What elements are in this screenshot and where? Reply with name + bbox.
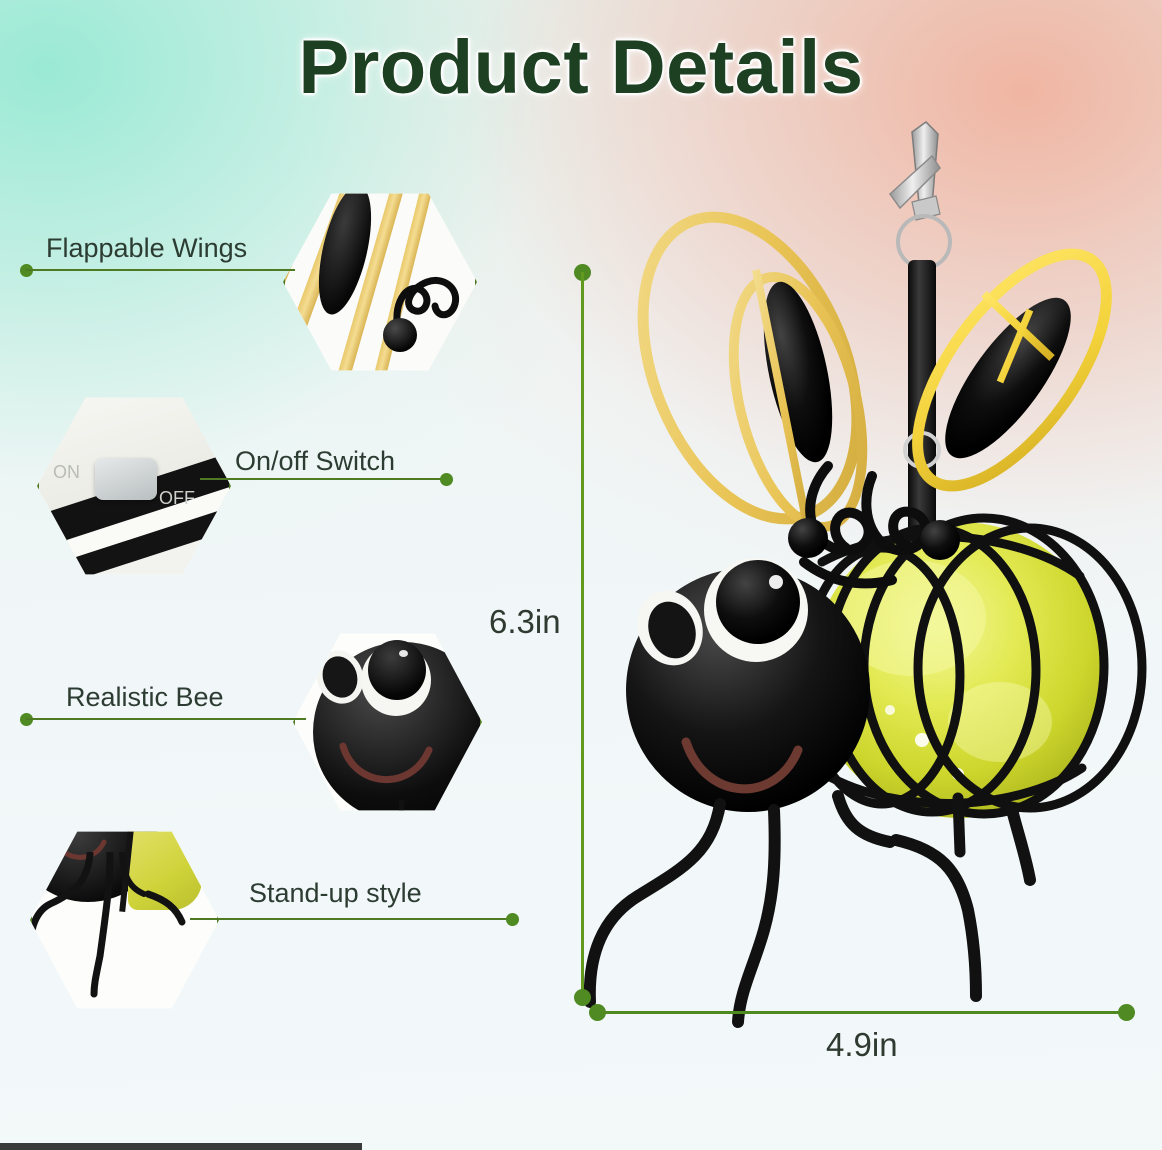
hex-frame-flappable-wings xyxy=(283,190,477,374)
bottom-bar xyxy=(0,1143,362,1150)
hex-frame-on-off-switch: ON OFF xyxy=(37,394,231,578)
lead-line-on-off-switch xyxy=(200,478,446,480)
on-off-switch-closeup-photo: ON OFF xyxy=(39,396,229,576)
callout-label-realistic-bee: Realistic Bee xyxy=(66,682,224,713)
callout-label-stand-up-style: Stand-up style xyxy=(249,878,422,909)
product-details-infographic: Product Details Flappable Wings xyxy=(0,0,1162,1150)
lead-line-realistic-bee xyxy=(26,718,306,720)
dim-dot-height-bottom xyxy=(574,989,591,1006)
dim-dot-width-right xyxy=(1118,1004,1135,1021)
dim-line-horizontal xyxy=(597,1011,1127,1014)
lead-dot-on-off-switch xyxy=(440,473,453,486)
bee-legs-shape xyxy=(32,852,217,1010)
switch-toggle-shape xyxy=(95,458,157,500)
antenna-ball-right xyxy=(920,520,960,560)
lead-line-stand-up-style xyxy=(190,918,512,920)
bee-face-closeup-photo xyxy=(295,632,480,812)
antenna-ball-left xyxy=(788,518,828,558)
dim-label-width: 4.9in xyxy=(826,1026,898,1064)
bee-wing-closeup-photo xyxy=(285,192,475,372)
bee-right-eye xyxy=(704,558,808,662)
callout-label-flappable-wings: Flappable Wings xyxy=(46,233,247,264)
bee-legs-standing-closeup-photo xyxy=(32,830,217,1010)
stake-shape xyxy=(958,798,960,852)
hex-frame-realistic-bee xyxy=(293,630,482,814)
dim-line-vertical xyxy=(581,272,584,1000)
callout-label-on-off-switch: On/off Switch xyxy=(235,446,395,477)
solar-bee-garden-stake-photo xyxy=(560,110,1160,1030)
hex-frame-stand-up-style xyxy=(30,828,219,1012)
lead-dot-stand-up-style xyxy=(506,913,519,926)
alligator-clip-shape xyxy=(890,122,950,268)
bee-artwork-svg xyxy=(560,110,1160,1030)
page-title: Product Details xyxy=(0,24,1162,111)
lead-line-flappable-wings xyxy=(26,269,295,271)
bee-smile-shape xyxy=(337,740,447,800)
dim-label-height: 6.3in xyxy=(489,603,561,641)
left-wing-shape xyxy=(602,186,898,551)
